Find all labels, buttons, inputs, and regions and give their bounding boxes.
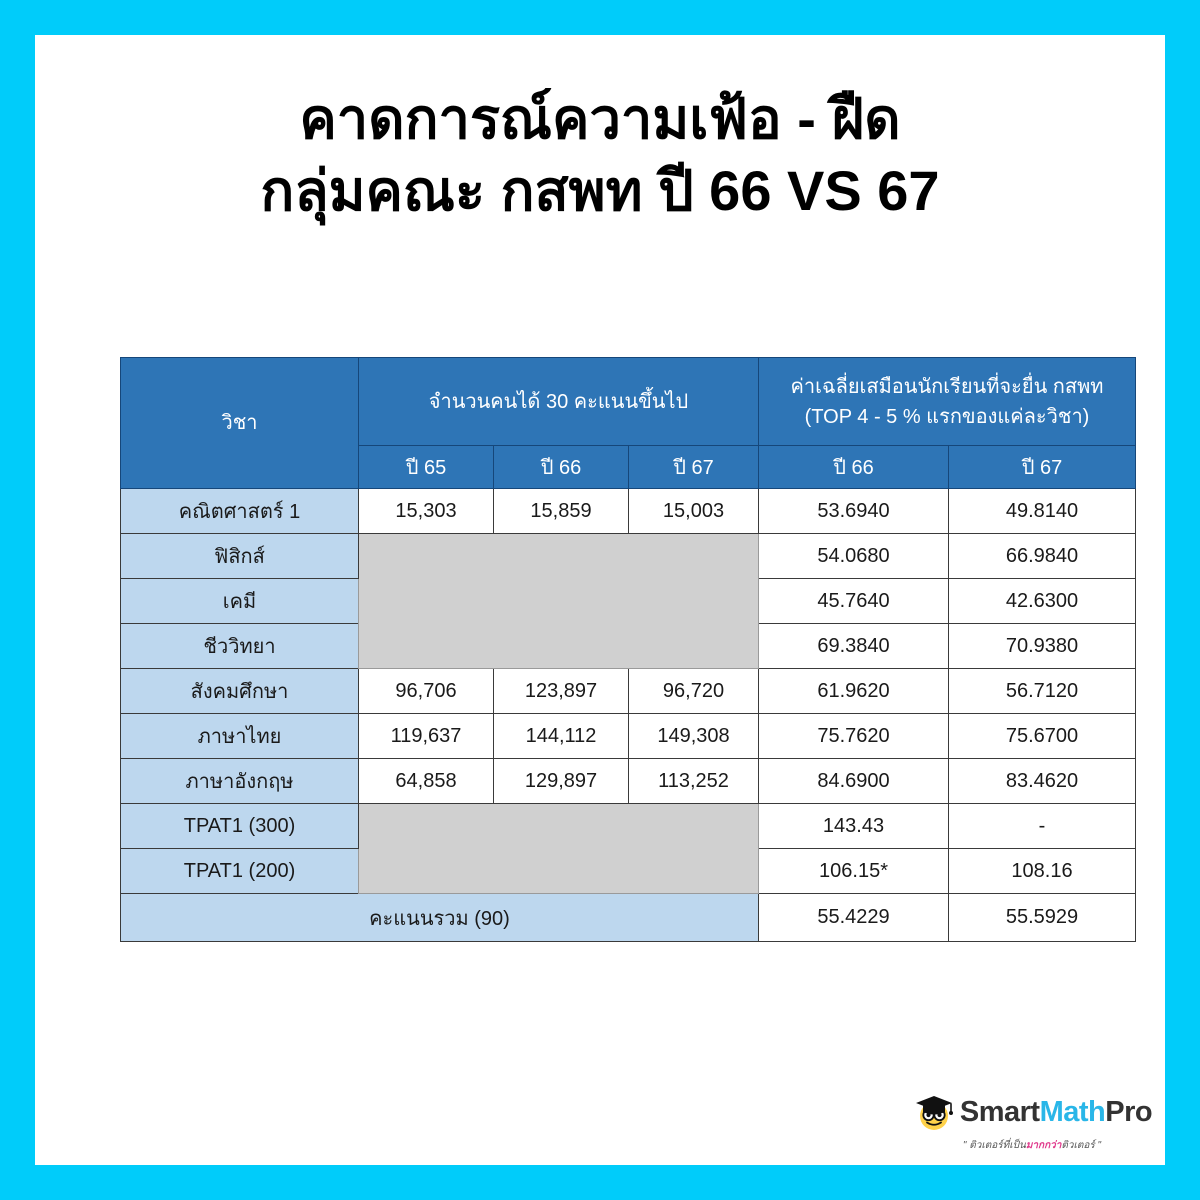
- cell-count-67: 15,003: [629, 489, 759, 534]
- cell-count-65: 15,303: [359, 489, 494, 534]
- row-subject-label: ฟิสิกส์: [121, 534, 359, 579]
- cell-count-66: 123,897: [494, 669, 629, 714]
- tagline-close: ติวเตอร์ ": [1061, 1140, 1101, 1151]
- graduate-face-icon: [912, 1091, 956, 1133]
- tagline-accent: มากกว่า: [1026, 1140, 1062, 1151]
- logo-word-smart: Smart: [960, 1096, 1040, 1128]
- cell-avg-66: 143.43: [759, 804, 949, 849]
- logo-wordmark: SmartMathPro: [960, 1098, 1152, 1127]
- cell-avg-66: 53.6940: [759, 489, 949, 534]
- cell-avg-66: 61.9620: [759, 669, 949, 714]
- table-row: คณิตศาสตร์ 1 15,303 15,859 15,003 53.694…: [121, 489, 1136, 534]
- cell-avg-67: 66.9840: [949, 534, 1136, 579]
- cell-no-data-block: [359, 804, 759, 894]
- page-canvas: คาดการณ์ความเฟ้อ - ฝืด กลุ่มคณะ กสพท ปี …: [35, 35, 1165, 1165]
- cell-count-65: 119,637: [359, 714, 494, 759]
- header-group-average-line2: (TOP 4 - 5 % แรกของแค่ละวิชา): [759, 402, 1135, 432]
- logo-word-math: Math: [1040, 1096, 1106, 1128]
- cell-avg-67: 56.7120: [949, 669, 1136, 714]
- header-year-66-avg: ปี 66: [759, 446, 949, 489]
- brand-logo: SmartMathPro " ติวเตอร์ที่เป็นมากกว่าติว…: [899, 1073, 1165, 1165]
- header-year-65-counts: ปี 65: [359, 446, 494, 489]
- cell-avg-67: 108.16: [949, 849, 1136, 894]
- cell-avg-67: 42.6300: [949, 579, 1136, 624]
- row-subject-label: ภาษาอังกฤษ: [121, 759, 359, 804]
- page-title-line-1: คาดการณ์ความเฟ้อ - ฝืด: [35, 83, 1165, 155]
- row-subject-label: ชีววิทยา: [121, 624, 359, 669]
- cell-count-67: 96,720: [629, 669, 759, 714]
- logo-tagline: " ติวเตอร์ที่เป็นมากกว่าติวเตอร์ ": [963, 1138, 1101, 1153]
- row-subject-label: TPAT1 (200): [121, 849, 359, 894]
- cell-avg-67: 75.6700: [949, 714, 1136, 759]
- cell-avg-66: 84.6900: [759, 759, 949, 804]
- cell-avg-66: 54.0680: [759, 534, 949, 579]
- header-group-counts: จำนวนคนได้ 30 คะแนนขึ้นไป: [359, 358, 759, 446]
- cell-avg-66: 45.7640: [759, 579, 949, 624]
- tagline-open: " ติวเตอร์ที่เป็น: [963, 1140, 1026, 1151]
- table-row: ภาษาอังกฤษ 64,858 129,897 113,252 84.690…: [121, 759, 1136, 804]
- cell-count-66: 129,897: [494, 759, 629, 804]
- table-row: สังคมศึกษา 96,706 123,897 96,720 61.9620…: [121, 669, 1136, 714]
- cell-avg-67: 49.8140: [949, 489, 1136, 534]
- page-title-line-2: กลุ่มคณะ กสพท ปี 66 VS 67: [35, 155, 1165, 227]
- cell-avg-67: -: [949, 804, 1136, 849]
- table-row: ภาษาไทย 119,637 144,112 149,308 75.7620 …: [121, 714, 1136, 759]
- header-row-groups: วิชา จำนวนคนได้ 30 คะแนนขึ้นไป ค่าเฉลี่ย…: [121, 358, 1136, 446]
- cell-no-data-block: [359, 534, 759, 669]
- table-body: คณิตศาสตร์ 1 15,303 15,859 15,003 53.694…: [121, 489, 1136, 942]
- total-avg-67: 55.5929: [949, 894, 1136, 942]
- comparison-table-wrapper: วิชา จำนวนคนได้ 30 คะแนนขึ้นไป ค่าเฉลี่ย…: [120, 357, 1135, 942]
- header-year-67-counts: ปี 67: [629, 446, 759, 489]
- table-total-row: คะแนนรวม (90) 55.4229 55.5929: [121, 894, 1136, 942]
- logo-row: SmartMathPro: [912, 1091, 1152, 1133]
- cell-avg-67: 70.9380: [949, 624, 1136, 669]
- cell-count-66: 15,859: [494, 489, 629, 534]
- row-subject-label: TPAT1 (300): [121, 804, 359, 849]
- page-title: คาดการณ์ความเฟ้อ - ฝืด กลุ่มคณะ กสพท ปี …: [35, 83, 1165, 226]
- cell-count-65: 96,706: [359, 669, 494, 714]
- header-group-average: ค่าเฉลี่ยเสมือนนักเรียนที่จะยื่น กสพท (T…: [759, 358, 1136, 446]
- table-head: วิชา จำนวนคนได้ 30 คะแนนขึ้นไป ค่าเฉลี่ย…: [121, 358, 1136, 489]
- table-row: TPAT1 (300) 143.43 -: [121, 804, 1136, 849]
- cell-avg-66: 69.3840: [759, 624, 949, 669]
- row-subject-label: สังคมศึกษา: [121, 669, 359, 714]
- header-subject: วิชา: [121, 358, 359, 489]
- header-year-66-counts: ปี 66: [494, 446, 629, 489]
- cell-avg-67: 83.4620: [949, 759, 1136, 804]
- total-avg-66: 55.4229: [759, 894, 949, 942]
- table-row: ฟิสิกส์ 54.0680 66.9840: [121, 534, 1136, 579]
- comparison-table: วิชา จำนวนคนได้ 30 คะแนนขึ้นไป ค่าเฉลี่ย…: [120, 357, 1136, 942]
- row-subject-label: คณิตศาสตร์ 1: [121, 489, 359, 534]
- cell-count-66: 144,112: [494, 714, 629, 759]
- cell-count-67: 113,252: [629, 759, 759, 804]
- total-row-label: คะแนนรวม (90): [121, 894, 759, 942]
- header-year-67-avg: ปี 67: [949, 446, 1136, 489]
- cell-count-67: 149,308: [629, 714, 759, 759]
- header-group-average-line1: ค่าเฉลี่ยเสมือนนักเรียนที่จะยื่น กสพท: [759, 372, 1135, 402]
- row-subject-label: ภาษาไทย: [121, 714, 359, 759]
- cell-avg-66: 75.7620: [759, 714, 949, 759]
- cell-count-65: 64,858: [359, 759, 494, 804]
- logo-word-pro: Pro: [1105, 1096, 1152, 1128]
- row-subject-label: เคมี: [121, 579, 359, 624]
- cell-avg-66: 106.15*: [759, 849, 949, 894]
